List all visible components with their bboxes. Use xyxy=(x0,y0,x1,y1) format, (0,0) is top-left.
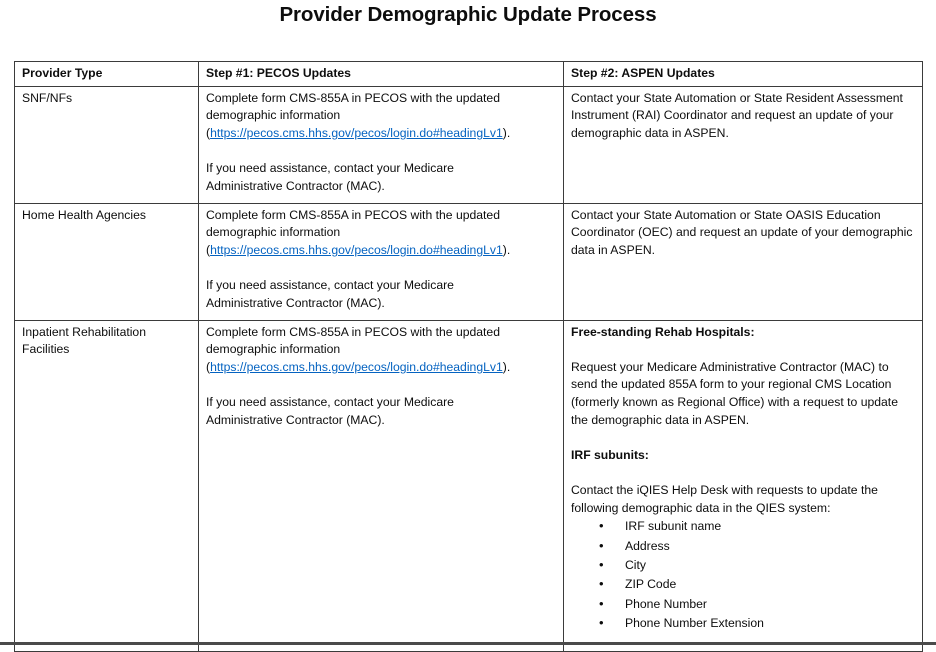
pecos-line-1: Complete form CMS-855A in PECOS with the… xyxy=(206,325,500,339)
table-row: Home Health Agencies Complete form CMS-8… xyxy=(15,203,923,320)
irf-subunits-body: Contact the iQIES Help Desk with request… xyxy=(571,482,916,517)
spacer xyxy=(571,464,916,482)
assistance-line-2: Administrative Contractor (MAC). xyxy=(206,179,385,193)
table-header-row: Provider Type Step #1: PECOS Updates Ste… xyxy=(15,62,923,87)
column-header-step2-aspen: Step #2: ASPEN Updates xyxy=(564,62,923,87)
column-header-step1-pecos: Step #1: PECOS Updates xyxy=(199,62,564,87)
cell-aspen-updates: Contact your State Automation or State O… xyxy=(564,203,923,320)
pecos-assistance-paragraph: If you need assistance, contact your Med… xyxy=(206,277,557,312)
list-item: ZIP Code xyxy=(571,575,916,594)
list-item: IRF subunit name xyxy=(571,517,916,536)
page-title: Provider Demographic Update Process xyxy=(0,0,936,28)
provider-update-table: Provider Type Step #1: PECOS Updates Ste… xyxy=(14,61,923,652)
spacer xyxy=(571,341,916,359)
page-bottom-rule xyxy=(0,642,936,645)
irf-subunits-bullet-list: IRF subunit name Address City ZIP Code P… xyxy=(571,517,916,633)
assistance-line-1: If you need assistance, contact your Med… xyxy=(206,278,454,292)
list-item: City xyxy=(571,556,916,575)
cell-pecos-updates: Complete form CMS-855A in PECOS with the… xyxy=(199,320,564,651)
paren-close: ). xyxy=(503,126,510,140)
paren-close: ). xyxy=(503,360,510,374)
column-header-provider-type: Provider Type xyxy=(15,62,199,87)
assistance-line-2: Administrative Contractor (MAC). xyxy=(206,296,385,310)
pecos-line-2: demographic information xyxy=(206,342,340,356)
pecos-instruction-paragraph: Complete form CMS-855A in PECOS with the… xyxy=(206,324,557,377)
cell-provider-type: Inpatient Rehabilitation Facilities xyxy=(15,320,199,651)
pecos-instruction-paragraph: Complete form CMS-855A in PECOS with the… xyxy=(206,90,557,143)
freestanding-rehab-heading: Free-standing Rehab Hospitals: xyxy=(571,324,916,342)
pecos-instruction-paragraph: Complete form CMS-855A in PECOS with the… xyxy=(206,207,557,260)
pecos-line-1: Complete form CMS-855A in PECOS with the… xyxy=(206,91,500,105)
aspen-instruction-text: Contact your State Automation or State O… xyxy=(571,207,916,260)
pecos-line-2: demographic information xyxy=(206,108,340,122)
irf-subunits-heading: IRF subunits: xyxy=(571,447,916,465)
paren-close: ). xyxy=(503,243,510,257)
list-item: Address xyxy=(571,537,916,556)
provider-update-table-wrapper: Provider Type Step #1: PECOS Updates Ste… xyxy=(14,61,922,652)
pecos-line-2: demographic information xyxy=(206,225,340,239)
cell-pecos-updates: Complete form CMS-855A in PECOS with the… xyxy=(199,86,564,203)
assistance-line-1: If you need assistance, contact your Med… xyxy=(206,395,454,409)
cell-provider-type: SNF/NFs xyxy=(15,86,199,203)
list-item: Phone Number Extension xyxy=(571,614,916,633)
table-row: SNF/NFs Complete form CMS-855A in PECOS … xyxy=(15,86,923,203)
assistance-line-1: If you need assistance, contact your Med… xyxy=(206,161,454,175)
freestanding-rehab-body: Request your Medicare Administrative Con… xyxy=(571,359,916,429)
aspen-instruction-text: Contact your State Automation or State R… xyxy=(571,90,916,143)
pecos-assistance-paragraph: If you need assistance, contact your Med… xyxy=(206,394,557,429)
cell-provider-type: Home Health Agencies xyxy=(15,203,199,320)
pecos-assistance-paragraph: If you need assistance, contact your Med… xyxy=(206,160,557,195)
pecos-login-link[interactable]: https://pecos.cms.hhs.gov/pecos/login.do… xyxy=(210,126,503,140)
spacer xyxy=(571,429,916,447)
document-page: Provider Demographic Update Process Prov… xyxy=(0,0,936,648)
cell-aspen-updates: Free-standing Rehab Hospitals: Request y… xyxy=(564,320,923,651)
cell-pecos-updates: Complete form CMS-855A in PECOS with the… xyxy=(199,203,564,320)
table-row: Inpatient Rehabilitation Facilities Comp… xyxy=(15,320,923,651)
assistance-line-2: Administrative Contractor (MAC). xyxy=(206,413,385,427)
pecos-login-link[interactable]: https://pecos.cms.hhs.gov/pecos/login.do… xyxy=(210,243,503,257)
cell-aspen-updates: Contact your State Automation or State R… xyxy=(564,86,923,203)
pecos-login-link[interactable]: https://pecos.cms.hhs.gov/pecos/login.do… xyxy=(210,360,503,374)
pecos-line-1: Complete form CMS-855A in PECOS with the… xyxy=(206,208,500,222)
list-item: Phone Number xyxy=(571,595,916,614)
